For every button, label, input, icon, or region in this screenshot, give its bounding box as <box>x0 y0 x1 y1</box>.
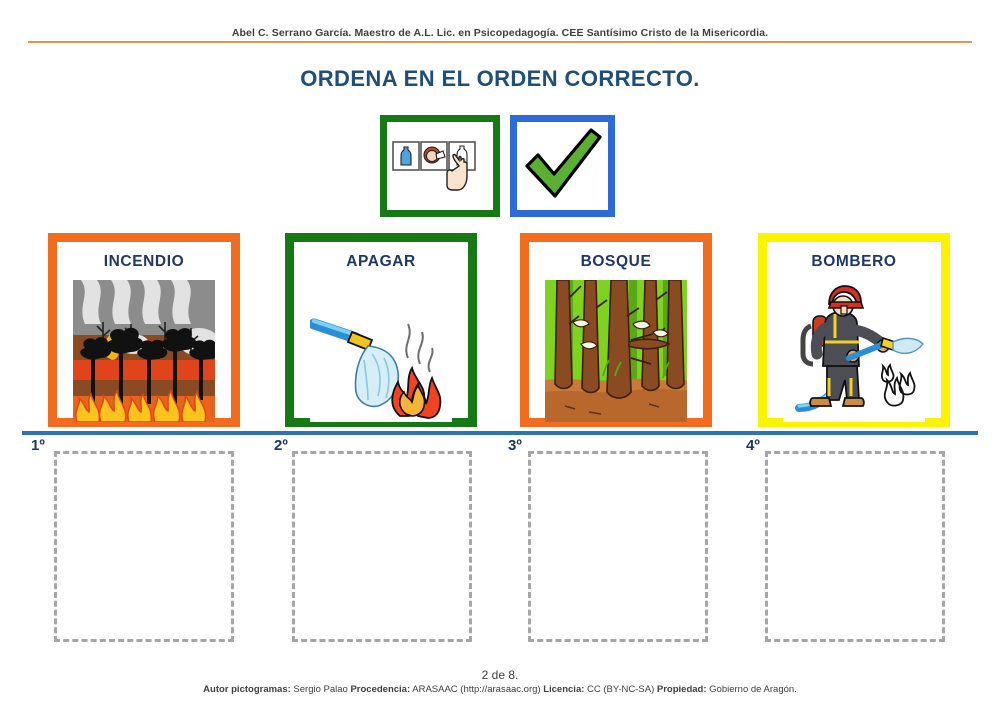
footer-credit: Autor pictogramas: Sergio Palao Proceden… <box>0 684 1000 695</box>
order-sequence-pictogram[interactable] <box>380 115 500 217</box>
slot-ordinal-3: 3º <box>508 437 522 454</box>
section-divider <box>22 431 978 435</box>
card-incendio[interactable]: INCENDIO <box>48 233 240 427</box>
check-icon <box>517 122 608 210</box>
order-sequence-icon <box>387 122 493 210</box>
footer-license-value: CC (BY-NC-SA) <box>584 684 657 695</box>
forest-trees-image <box>545 280 687 422</box>
check-mark-pictogram[interactable] <box>510 115 615 217</box>
footer-license-label: Licencia: <box>543 684 584 695</box>
slot-ordinal-4: 4º <box>746 437 760 454</box>
footer-source-value: ARASAAC (http://arasaac.org) <box>410 684 543 695</box>
footer-owner-value: Gobierno de Aragón. <box>707 684 797 695</box>
header-credit: Abel C. Serrano García. Maestro de A.L. … <box>0 27 1000 39</box>
slot-ordinal-1: 1º <box>31 437 45 454</box>
worksheet-page: Abel C. Serrano García. Maestro de A.L. … <box>0 0 1000 707</box>
drop-zone-1[interactable] <box>54 451 234 642</box>
footer-author-value: Sergio Palao <box>291 684 351 695</box>
card-label: BOSQUE <box>529 253 703 271</box>
card-bombero[interactable]: BOMBERO <box>758 233 950 427</box>
hose-extinguishing-fire-image <box>310 280 452 422</box>
drop-zone-2[interactable] <box>292 451 472 642</box>
drop-zone-3[interactable] <box>528 451 708 642</box>
page-title: ORDENA EN EL ORDEN CORRECTO. <box>0 66 1000 92</box>
forest-fire-image <box>73 280 215 422</box>
footer-author-label: Autor pictogramas: <box>203 684 291 695</box>
header-divider <box>28 41 972 43</box>
card-label: BOMBERO <box>767 253 941 271</box>
card-bosque[interactable]: BOSQUE <box>520 233 712 427</box>
card-label: INCENDIO <box>57 253 231 271</box>
firefighter-image <box>783 280 925 422</box>
slot-ordinal-2: 2º <box>274 437 288 454</box>
footer-owner-label: Propiedad: <box>657 684 707 695</box>
card-apagar[interactable]: APAGAR <box>285 233 477 427</box>
card-label: APAGAR <box>294 253 468 271</box>
page-number: 2 de 8. <box>0 668 1000 682</box>
instruction-pictogram-row <box>0 115 1000 220</box>
drop-zone-4[interactable] <box>765 451 945 642</box>
footer-source-label: Procedencia: <box>350 684 410 695</box>
